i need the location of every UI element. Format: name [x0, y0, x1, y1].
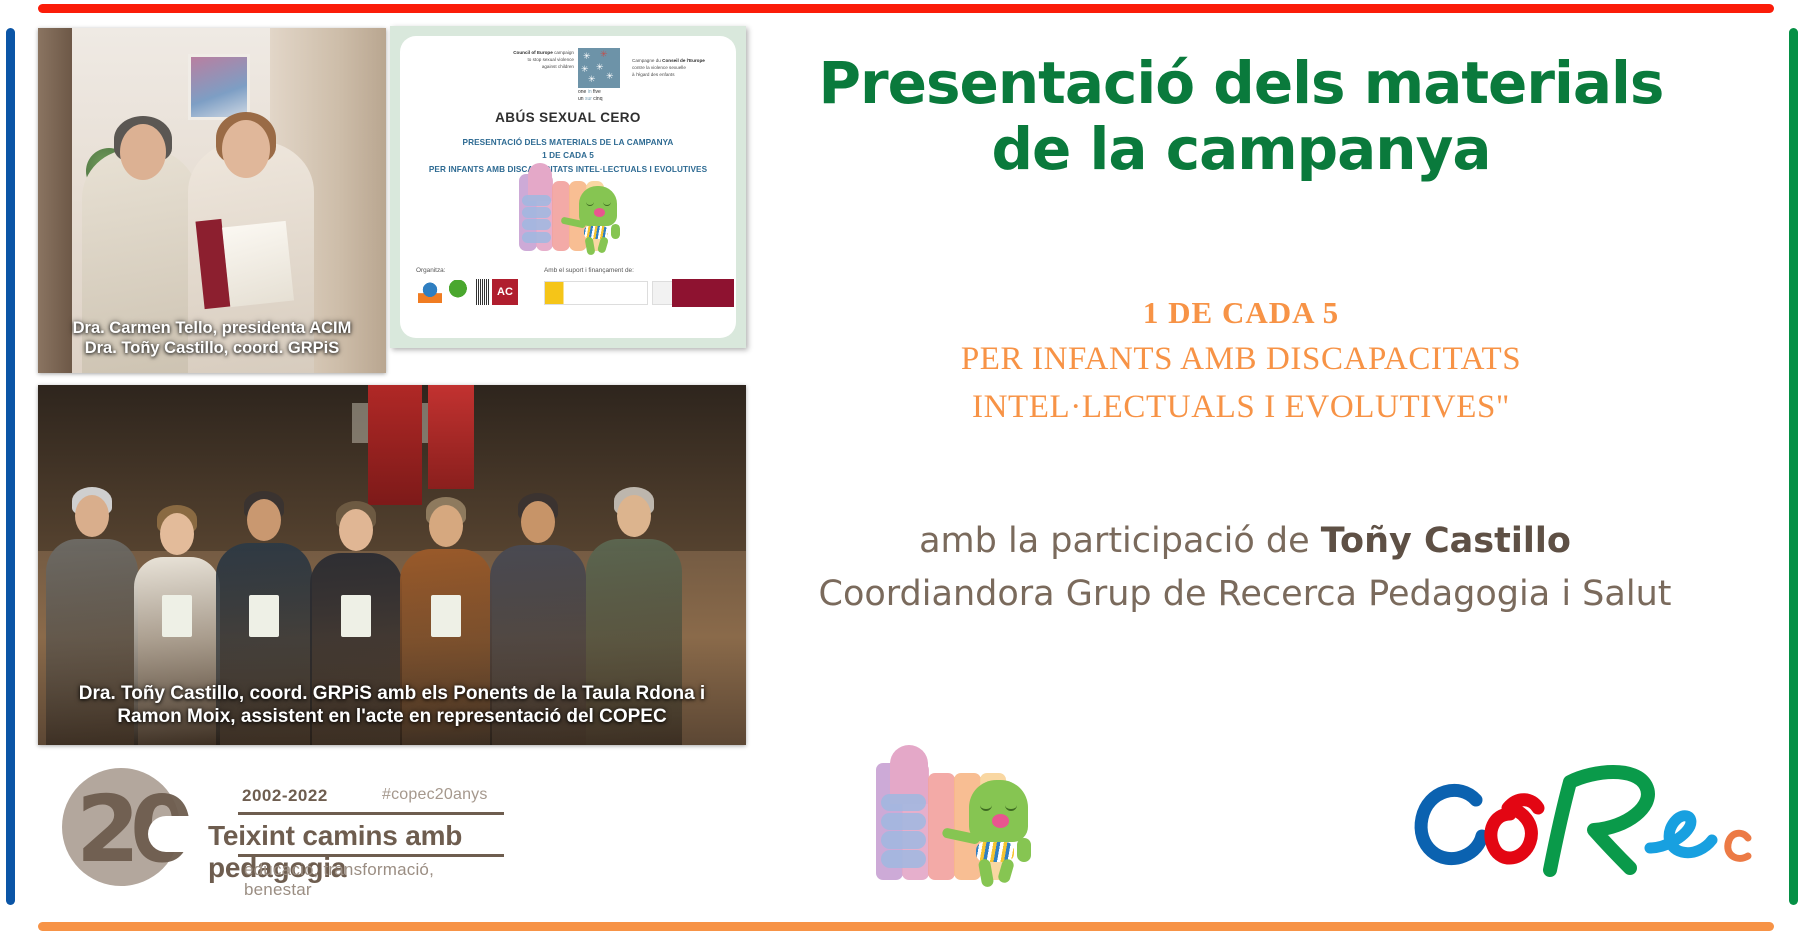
person-head [429, 505, 463, 547]
campaign-poster-image: Council of Europe campaign to stop sexua… [390, 26, 746, 348]
mascot-knuckle-3 [881, 831, 926, 848]
mascot-stripe-3 [552, 181, 570, 250]
wall-picture [188, 54, 250, 120]
copec-letter-P [1550, 772, 1648, 870]
coe-bold-en: Council of Europe [513, 50, 553, 55]
sponsor-logo-gobierno-espana [544, 281, 648, 305]
credit-prefix: amb la participació de [919, 521, 1321, 561]
thumbs-up-mascot-large-icon [866, 742, 1056, 904]
poster-sub-line-1: PRESENTACIÓ DELS MATERIALS DE LA CAMPANY… [412, 136, 724, 149]
campaign-leaflet [249, 595, 279, 637]
campaign-announcement-poster: Dra. Carmen Tello, presidenta ACIM Dra. … [0, 0, 1800, 940]
person-head [75, 495, 109, 537]
person-head-left [120, 124, 166, 180]
star-icon-red: ✳ [600, 50, 608, 59]
mascot-character-head [969, 780, 1027, 842]
support-label: Amb el suport i finançament de: [544, 267, 634, 274]
campaign-subtitle: 1 DE CADA 5 PER INFANTS AMB DISCAPACITAT… [826, 290, 1656, 432]
copec-logo-svg [1398, 752, 1768, 892]
speaker-credit: amb la participació de Toñy Castillo Coo… [740, 515, 1750, 621]
person-head [521, 501, 555, 543]
photo-caption: Dra. Carmen Tello, presidenta ACIM Dra. … [38, 318, 386, 359]
coe-logo-text-english: Council of Europe campaign to stop sexua… [486, 50, 574, 71]
mascot-knuckle-1 [881, 794, 926, 811]
top-accent-bar [38, 4, 1774, 13]
mascot-knuckle-2 [881, 813, 926, 830]
red-banner-left [368, 385, 422, 505]
oif-sur: sur [584, 96, 594, 102]
person-head [339, 509, 373, 551]
red-banner-right [428, 385, 474, 489]
mascot-eye-right [603, 201, 611, 205]
person-head-right [222, 120, 270, 178]
title-line-2: de la campanya [776, 116, 1706, 182]
anniversary-years: 2002-2022 [242, 786, 328, 806]
coe-rest-en: campaign [553, 50, 574, 55]
star-icon: ✳ [588, 75, 596, 84]
photo-caption: Dra. Toñy Castillo, coord. GRPiS amb els… [38, 682, 746, 730]
subtitle-line-1: 1 DE CADA 5 [826, 290, 1656, 335]
anniversary-hashtag: #copec20anys [382, 786, 488, 804]
copec-letter-o [1491, 800, 1538, 858]
organiza-label: Organitza: [416, 267, 445, 274]
credit-line-1: amb la participació de Toñy Castillo [740, 515, 1750, 568]
mascot-mouth [594, 208, 605, 217]
sponsor-logo-acim: AC [492, 279, 518, 305]
mascot-knuckle-3 [522, 219, 551, 230]
mascot-mouth [992, 814, 1009, 828]
caption-line-2: Dra. Toñy Castillo, coord. GRPiS [44, 338, 380, 359]
sponsor-logo-fapmi [418, 281, 442, 303]
subtitle-line-3: INTEL·LECTUALS I EVOLUTIVES" [826, 383, 1656, 431]
speaker-name: Toñy Castillo [1321, 521, 1571, 561]
coe-fr-line3: à l'égard des enfants [632, 72, 718, 79]
sponsor-logo-ecpat [448, 280, 470, 304]
caption-line-2: Ramon Moix, assistent en l'acte en repre… [44, 705, 740, 729]
mascot-knuckle-1 [522, 195, 551, 206]
mascot-character-head [579, 186, 617, 226]
mascot-knuckle-4 [881, 850, 926, 867]
document-prop [222, 221, 294, 307]
subtitle-line-2: PER INFANTS AMB DISCAPACITATS [826, 335, 1656, 383]
title-line-1: Presentació dels materials [776, 50, 1706, 116]
copec-logo [1398, 752, 1768, 892]
photo-group-ponents: Dra. Toñy Castillo, coord. GRPiS amb els… [38, 385, 746, 745]
copec-letter-C [1421, 790, 1482, 858]
star-icon: ✳ [583, 52, 591, 61]
campaign-leaflet [431, 595, 461, 637]
photo-tello-castillo: Dra. Carmen Tello, presidenta ACIM Dra. … [38, 28, 386, 373]
coe-en-line2: to stop sexual violence [486, 57, 574, 64]
page-title: Presentació dels materials de la campany… [776, 50, 1706, 182]
poster-sheet: Council of Europe campaign to stop sexua… [400, 36, 736, 338]
mascot-knuckle-4 [522, 232, 551, 243]
star-icon: ✳ [606, 72, 614, 81]
oif-in: in [586, 89, 593, 95]
coe-bold-fr: Conseil de l'Europe [662, 58, 705, 63]
right-accent-bar [1789, 28, 1798, 905]
mascot-arm-right [1017, 838, 1031, 862]
copec-20-anniversary-logo: 20 2002-2022 #copec20anys Teixint camins… [62, 762, 502, 894]
person-head [617, 495, 651, 537]
one-in-five-flag-icon: ✳ ✳ ✳ ✳ ✳ ✳ [578, 48, 620, 88]
anniversary-values: educació, transformació, benestar [244, 860, 502, 900]
copec-letter-c [1728, 833, 1748, 858]
poster-heading: ABÚS SEXUAL CERO [400, 110, 736, 125]
coe-pre-fr: Campagne du [632, 58, 662, 63]
copec-letter-e [1650, 816, 1712, 853]
campaign-leaflet [341, 595, 371, 637]
oif-five: five [593, 89, 601, 95]
bottom-accent-bar [38, 922, 1774, 931]
left-accent-bar [6, 28, 15, 905]
person-head [247, 499, 281, 541]
mascot-stripe-3 [928, 773, 955, 880]
person-head [160, 513, 194, 555]
caption-line-1: Dra. Toñy Castillo, coord. GRPiS amb els… [44, 682, 740, 706]
mascot-knuckle-2 [522, 207, 551, 218]
mascot-arm-right [611, 224, 620, 240]
divider-top [238, 812, 504, 815]
coe-logo-text-french: Campagne du Conseil de l'Europe contre l… [632, 58, 718, 79]
star-icon: ✳ [581, 65, 589, 74]
council-of-europe-logo: Council of Europe campaign to stop sexua… [486, 48, 696, 90]
oif-cinq: cinq [593, 96, 602, 102]
thumbs-up-mascot-icon [512, 161, 652, 269]
coe-en-line3: against children [486, 64, 574, 71]
caption-line-1: Dra. Carmen Tello, presidenta ACIM [44, 318, 380, 339]
sponsor-logo-barcode [476, 279, 490, 305]
coe-fr-line2: contre la violence sexuelle [632, 65, 718, 72]
one-in-five-slogan: one in five un sur cinq [578, 89, 626, 102]
sponsor-logo-diputacio-barcelona [672, 279, 734, 307]
star-icon: ✳ [596, 63, 604, 72]
campaign-leaflet [162, 595, 192, 637]
credit-line-2: Coordiandora Grup de Recerca Pedagogia i… [740, 568, 1750, 621]
